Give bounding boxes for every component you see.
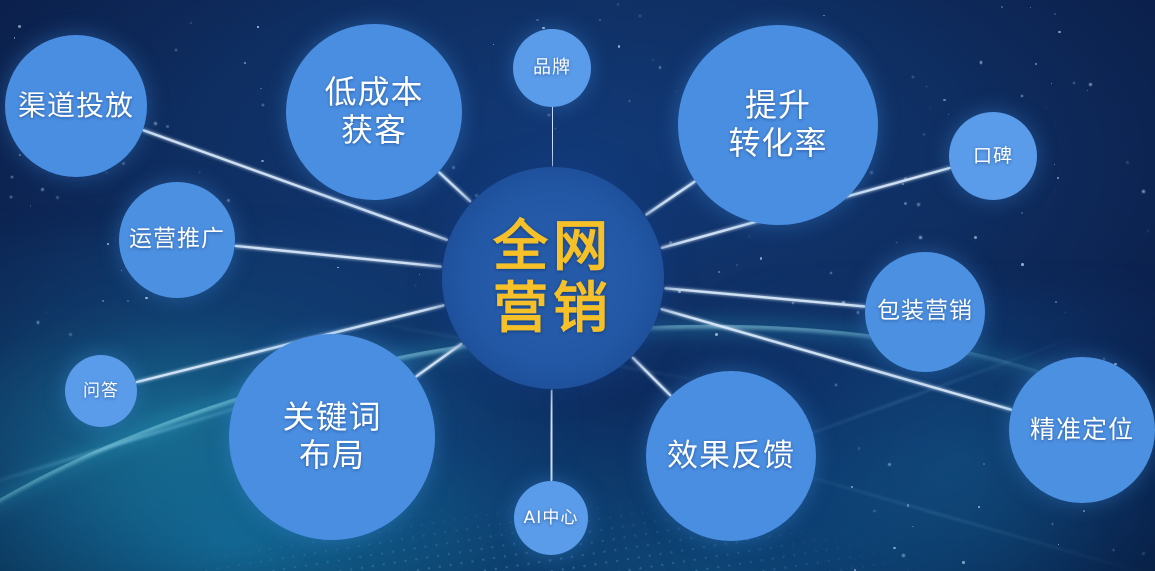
node-brand[interactable]: 品牌 xyxy=(513,29,591,107)
node-label-low-cost-acquisition-line-1: 低成本 xyxy=(318,74,429,112)
node-boost-conversion[interactable]: 提升转化率 xyxy=(678,25,878,225)
node-label-keyword-layout-line-1: 关键词 xyxy=(276,399,387,437)
node-keyword-layout[interactable]: 关键词布局 xyxy=(229,334,435,540)
connector-center-to-effect-feedback xyxy=(633,358,670,395)
node-reputation[interactable]: 口碑 xyxy=(949,112,1037,200)
node-label-keyword-layout-line-2: 布局 xyxy=(276,437,387,475)
connector-center-to-low-cost-acquisition xyxy=(439,173,470,202)
node-label-channel-placement: 渠道投放 xyxy=(12,89,140,122)
node-label-effect-feedback: 效果反馈 xyxy=(661,438,801,475)
connector-center-to-keyword-layout xyxy=(416,344,461,376)
center-label-line-1: 全网 xyxy=(493,216,613,278)
marketing-mindmap-canvas: 渠道投放低成本获客品牌提升转化率口碑运营推广包装营销问答关键词布局效果反馈精准定… xyxy=(0,0,1155,571)
node-label-brand: 品牌 xyxy=(527,57,577,78)
node-channel-placement[interactable]: 渠道投放 xyxy=(5,35,147,177)
node-label-packaging-marketing: 包装营销 xyxy=(871,298,979,325)
node-effect-feedback[interactable]: 效果反馈 xyxy=(646,371,816,541)
node-label-boost-conversion-line-1: 提升 xyxy=(722,87,833,125)
connector-center-to-ai-center xyxy=(551,391,552,480)
center-node-total-network-marketing[interactable]: 全网 营销 xyxy=(442,167,664,389)
node-label-qa: 问答 xyxy=(77,381,125,401)
node-precise-positioning[interactable]: 精准定位 xyxy=(1009,357,1155,503)
node-label-precise-positioning: 精准定位 xyxy=(1024,415,1140,445)
connector-center-to-boost-conversion xyxy=(646,182,694,215)
connector-center-to-operations-promotion xyxy=(236,246,441,267)
node-label-low-cost-acquisition-line-2: 获客 xyxy=(318,112,429,150)
node-packaging-marketing[interactable]: 包装营销 xyxy=(865,252,985,372)
node-operations-promotion[interactable]: 运营推广 xyxy=(119,182,235,298)
node-label-operations-promotion: 运营推广 xyxy=(123,226,231,253)
node-label-reputation: 口碑 xyxy=(967,145,1019,167)
node-label-ai-center: AI中心 xyxy=(518,508,585,528)
connector-center-to-packaging-marketing xyxy=(666,288,865,306)
center-label-line-2: 营销 xyxy=(493,278,613,340)
node-label-boost-conversion-line-2: 转化率 xyxy=(722,125,833,163)
node-ai-center[interactable]: AI中心 xyxy=(514,481,588,555)
node-qa[interactable]: 问答 xyxy=(65,355,137,427)
node-low-cost-acquisition[interactable]: 低成本获客 xyxy=(286,24,462,200)
